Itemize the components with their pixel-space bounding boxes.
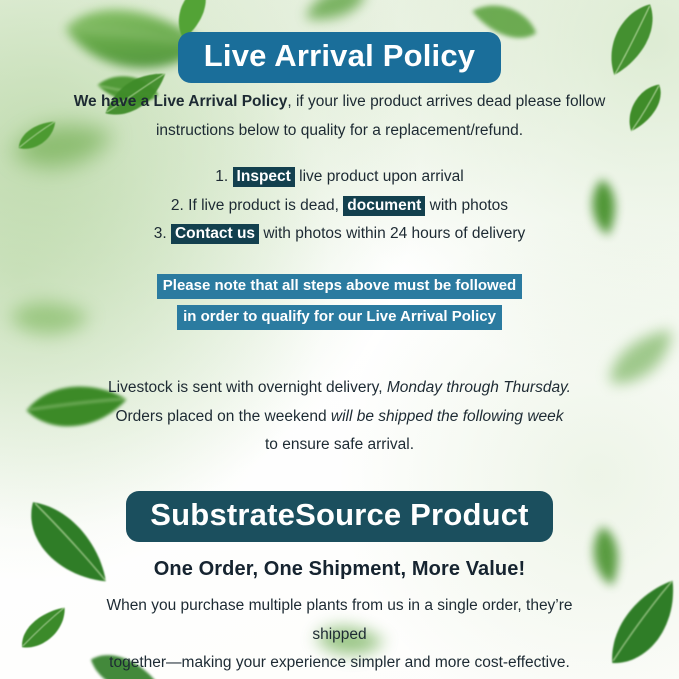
shipping-line-1: Livestock is sent with overnight deliver… bbox=[64, 374, 615, 403]
live-arrival-banner-row: Live Arrival Policy bbox=[0, 32, 679, 83]
policy-note: Please note that all steps above must be… bbox=[0, 274, 679, 330]
intro-lead-bold: We have a Live Arrival Policy bbox=[74, 93, 288, 110]
product-body-line-2: together—making your experience simpler … bbox=[78, 649, 601, 678]
shipping-line-2-plain: Orders placed on the weekend bbox=[115, 408, 326, 425]
step-after: live product upon arrival bbox=[299, 168, 464, 185]
step-number: 2. bbox=[171, 197, 184, 214]
step-after: with photos bbox=[430, 197, 508, 214]
step-before: If live product is dead, bbox=[188, 197, 339, 214]
shipping-line-2-italic: will be shipped the following week bbox=[331, 408, 564, 425]
substrate-source-banner-row: SubstrateSource Product bbox=[0, 491, 679, 542]
step-highlight: Inspect bbox=[233, 167, 295, 187]
list-item: 1. Inspect live product upon arrival bbox=[0, 163, 679, 192]
policy-note-line-2: in order to qualify for our Live Arrival… bbox=[177, 305, 502, 330]
step-number: 1. bbox=[215, 168, 228, 185]
step-highlight: document bbox=[343, 196, 425, 216]
list-item: 3. Contact us with photos within 24 hour… bbox=[0, 220, 679, 249]
step-highlight: Contact us bbox=[171, 224, 259, 244]
policy-note-row-1: Please note that all steps above must be… bbox=[0, 274, 679, 299]
policy-note-row-2: in order to qualify for our Live Arrival… bbox=[0, 305, 679, 330]
intro-paragraph: We have a Live Arrival Policy, if your l… bbox=[0, 88, 679, 145]
product-subheading: One Order, One Shipment, More Value! bbox=[0, 558, 679, 581]
live-arrival-policy-banner: Live Arrival Policy bbox=[178, 32, 501, 83]
substrate-source-product-banner: SubstrateSource Product bbox=[126, 491, 552, 542]
steps-list: 1. Inspect live product upon arrival 2. … bbox=[0, 163, 679, 249]
step-number: 3. bbox=[154, 225, 167, 242]
shipping-line-2: Orders placed on the weekend will be shi… bbox=[64, 403, 615, 432]
list-item: 2. If live product is dead, document wit… bbox=[0, 192, 679, 221]
live-arrival-policy-infographic: Live Arrival Policy We have a Live Arriv… bbox=[0, 0, 679, 679]
product-body-line-1: When you purchase multiple plants from u… bbox=[78, 592, 601, 649]
intro-lead-rest: , if your live product arrives dead plea… bbox=[287, 93, 605, 110]
intro-line-2: instructions below to quality for a repl… bbox=[64, 117, 615, 146]
shipping-line-3: to ensure safe arrival. bbox=[64, 431, 615, 460]
intro-line-1: We have a Live Arrival Policy, if your l… bbox=[64, 88, 615, 117]
shipping-line-1-italic: Monday through Thursday. bbox=[387, 379, 571, 396]
shipping-line-1-plain: Livestock is sent with overnight deliver… bbox=[108, 379, 383, 396]
policy-note-line-1: Please note that all steps above must be… bbox=[157, 274, 522, 299]
step-after: with photos within 24 hours of delivery bbox=[263, 225, 525, 242]
shipping-paragraph: Livestock is sent with overnight deliver… bbox=[0, 374, 679, 460]
product-paragraph: When you purchase multiple plants from u… bbox=[0, 592, 679, 678]
